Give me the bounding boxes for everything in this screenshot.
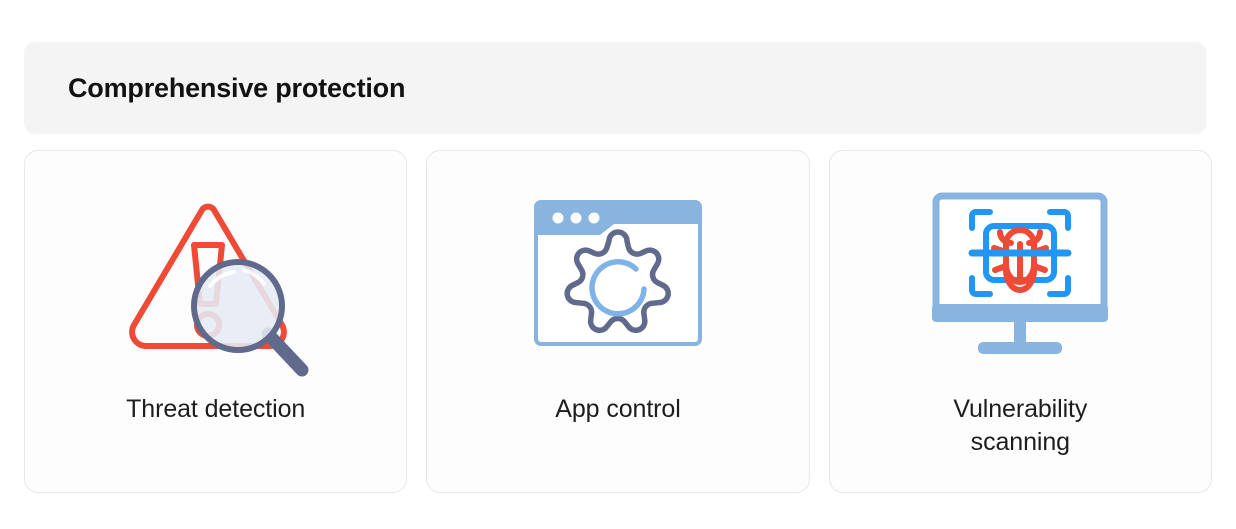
- window-dots-icon: [552, 213, 599, 224]
- app-control-icon: [513, 177, 723, 387]
- section-header-banner: Comprehensive protection: [24, 42, 1206, 134]
- feature-card-app-control[interactable]: App control: [426, 150, 809, 493]
- comprehensive-protection-panel: Comprehensive protection: [0, 0, 1236, 529]
- feature-card-vulnerability-scanning[interactable]: Vulnerability scanning: [829, 150, 1212, 493]
- page-title: Comprehensive protection: [68, 72, 405, 104]
- browser-window-icon: [536, 202, 700, 344]
- feature-card-threat-detection[interactable]: Threat detection: [24, 150, 407, 493]
- magnifying-glass-icon: [194, 262, 302, 370]
- feature-card-label: Vulnerability scanning: [910, 393, 1130, 460]
- feature-card-label: Threat detection: [126, 393, 305, 426]
- vulnerability-scanning-icon: [915, 177, 1125, 387]
- feature-cards-row: Threat detection: [24, 150, 1212, 493]
- threat-detection-icon: [111, 177, 321, 387]
- feature-card-label: App control: [555, 393, 680, 426]
